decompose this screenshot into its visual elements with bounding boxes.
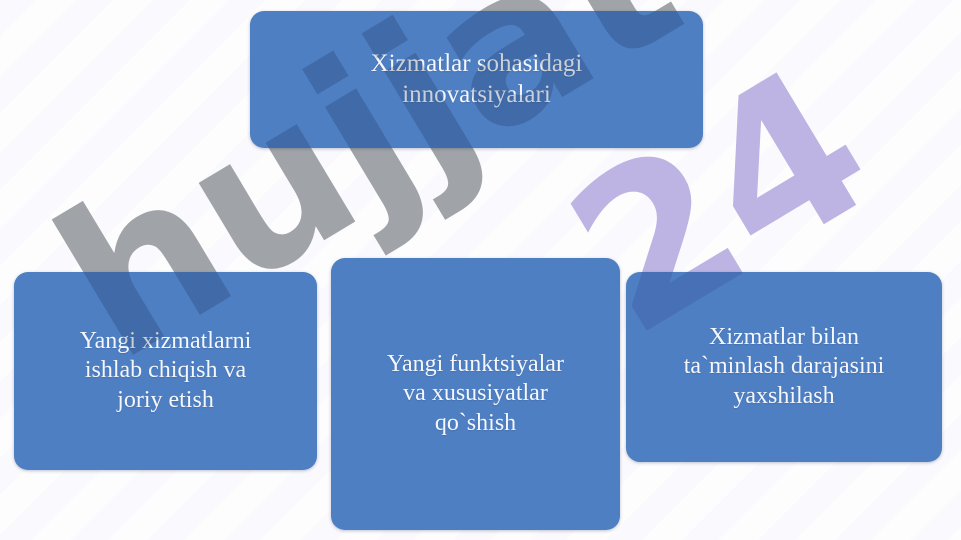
diagram-node-child-3[interactable]: Xizmatlar bilan ta`minlash darajasini ya… — [626, 272, 942, 462]
diagram-node-child-1-label: Yangi xizmatlarni ishlab chiqish va jori… — [80, 327, 252, 415]
diagram-node-root-label: Xizmatlar sohasidagi innovatsiyalari — [371, 49, 583, 110]
slide-canvas: hujjat 24 Xizmatlar sohasidagi innovatsi… — [0, 0, 961, 540]
diagram-node-child-1[interactable]: Yangi xizmatlarni ishlab chiqish va jori… — [14, 272, 317, 470]
diagram-node-child-2-label: Yangi funktsiyalar va xususiyatlar qo`sh… — [387, 350, 564, 438]
diagram-node-child-2[interactable]: Yangi funktsiyalar va xususiyatlar qo`sh… — [331, 258, 620, 530]
diagram-node-root[interactable]: Xizmatlar sohasidagi innovatsiyalari — [250, 11, 703, 148]
diagram-node-child-3-label: Xizmatlar bilan ta`minlash darajasini ya… — [684, 323, 885, 411]
